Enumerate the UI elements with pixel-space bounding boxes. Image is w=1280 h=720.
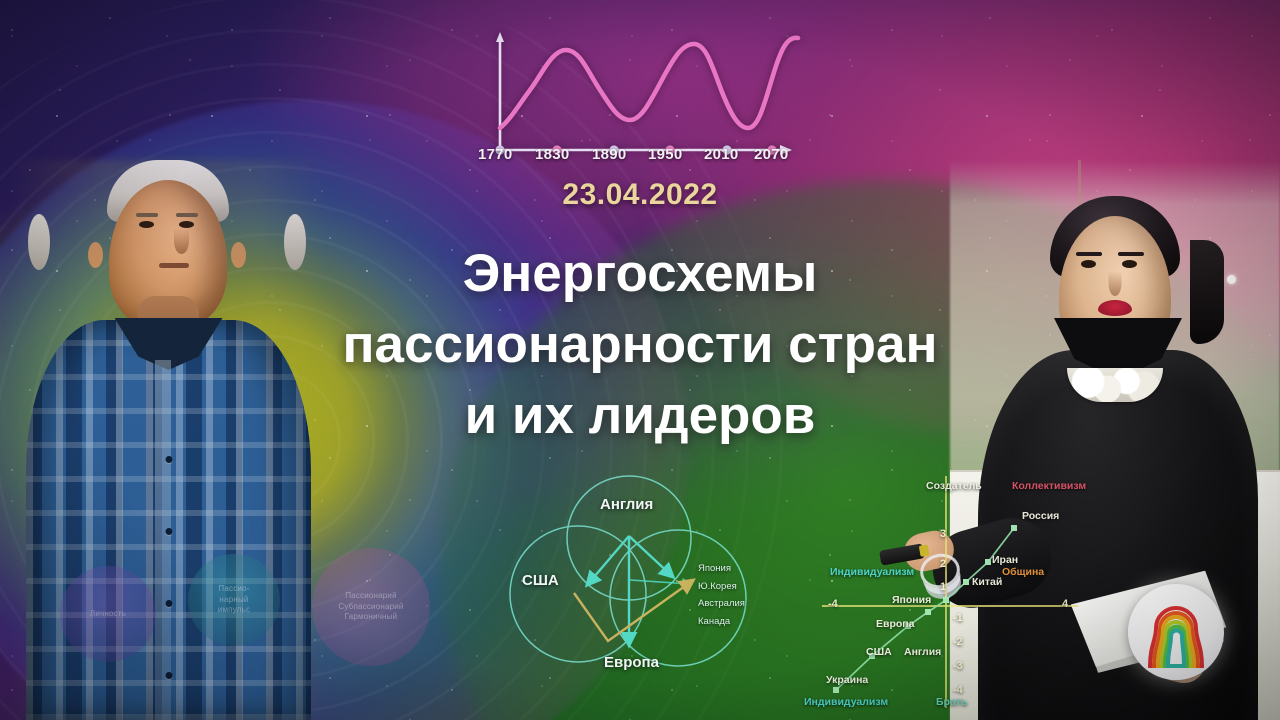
thumbnail-canvas: 1770 1830 1890 1950 2010 2070 23.04.2022… [0, 0, 1280, 720]
vignette-overlay [0, 0, 1280, 720]
